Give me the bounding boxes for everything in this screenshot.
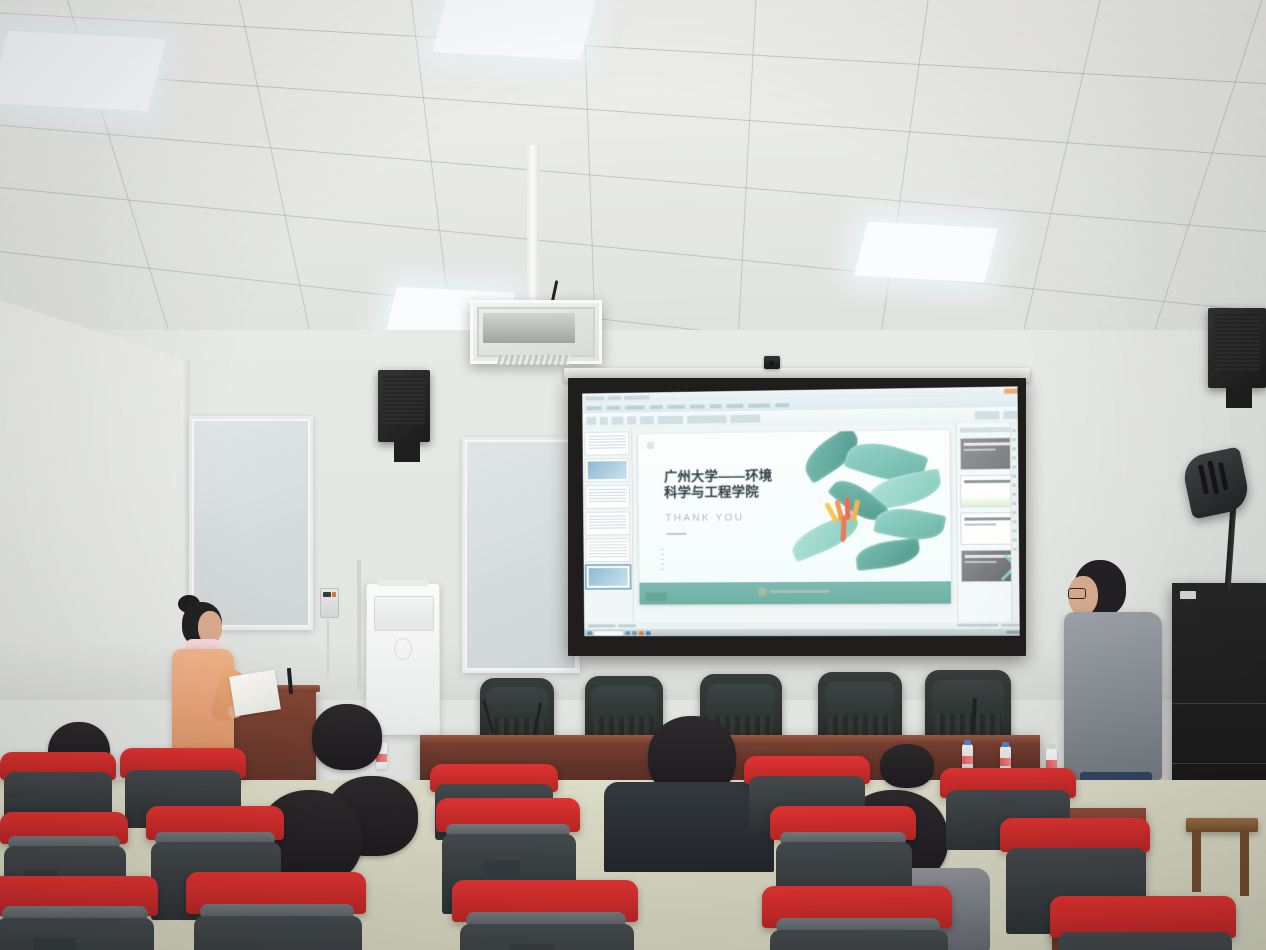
- camera-icon: [764, 356, 780, 369]
- ceiling-air-vent: [497, 355, 572, 365]
- panel-chair: [585, 676, 663, 744]
- design-ideas-header: [960, 427, 1015, 433]
- taskbar-search-input[interactable]: [594, 631, 623, 635]
- air-conditioner: [366, 583, 440, 735]
- wall-conduit: [357, 560, 361, 690]
- projector-mount-pole: [527, 145, 539, 310]
- conference-room-photo: 广州大学——环境 科学与工程学院 THANK YOU: [0, 0, 1266, 950]
- slide-subtitle: THANK YOU: [665, 511, 744, 524]
- printed-papers: [229, 670, 281, 717]
- taskbar-app-icon[interactable]: [632, 631, 637, 635]
- water-bottle: [962, 744, 973, 771]
- slide-editing-stage: 广州大学——环境 科学与工程学院 THANK YOU: [632, 424, 957, 623]
- start-button-icon[interactable]: [587, 631, 592, 635]
- glasses-icon: [1068, 588, 1086, 599]
- projector-body: [483, 313, 575, 343]
- speaker-bracket-left: [394, 440, 420, 462]
- current-slide: 广州大学——环境 科学与工程学院 THANK YOU: [638, 430, 951, 605]
- slide-thumbnail[interactable]: [585, 485, 630, 509]
- slide-logo-icon: [647, 442, 654, 449]
- ppt-workspace: 广州大学——环境 科学与工程学院 THANK YOU: [583, 423, 1020, 623]
- taskbar-app-icon[interactable]: [639, 631, 644, 635]
- slide-number-tag: [645, 593, 667, 602]
- ceiling-panel-light: [854, 222, 998, 283]
- audience-head: [312, 704, 382, 770]
- slide-thumbnail[interactable]: [585, 511, 630, 535]
- ceiling-panel-light: [433, 0, 597, 60]
- speaker-bracket-right: [1226, 386, 1252, 408]
- projection-screen-assembly: 广州大学——环境 科学与工程学院 THANK YOU: [564, 368, 1030, 668]
- stool-leg: [1192, 830, 1201, 892]
- stool-leg: [1240, 830, 1249, 896]
- slide-watermark: [758, 587, 830, 596]
- slide-side-dots: [661, 549, 664, 571]
- design-idea-card[interactable]: [960, 437, 1015, 470]
- projected-desktop: 广州大学——环境 科学与工程学院 THANK YOU: [582, 386, 1020, 636]
- wall-control-panel[interactable]: [320, 588, 339, 618]
- panel-chair: [925, 670, 1011, 744]
- taskbar-app-icon[interactable]: [625, 631, 630, 635]
- slide-thumbnail[interactable]: [584, 431, 629, 455]
- design-idea-card[interactable]: [960, 512, 1015, 545]
- control-panel-cable: [327, 616, 329, 678]
- slide-thumbnail-selected[interactable]: [586, 565, 631, 589]
- design-idea-card[interactable]: [961, 550, 1016, 583]
- whiteboard-right: [462, 437, 580, 673]
- ac-dial-icon: [394, 638, 412, 660]
- taskbar-clock: [1006, 631, 1019, 634]
- audience-head: [880, 744, 934, 788]
- wall-speaker-left: [378, 370, 430, 442]
- panel-chair: [818, 672, 902, 744]
- wall-speaker-right: [1208, 308, 1266, 388]
- ppt-account-chip[interactable]: [1004, 388, 1020, 393]
- slide-divider-rule: [666, 533, 686, 535]
- leaf-illustration: [770, 438, 950, 590]
- slide-thumbnail[interactable]: [585, 538, 630, 562]
- design-idea-card[interactable]: [960, 475, 1015, 508]
- slide-thumbnail-panel[interactable]: [583, 428, 634, 622]
- right-scroll-rail[interactable]: [1010, 423, 1020, 622]
- ceiling-panel-light: [0, 31, 166, 111]
- slide-thumbnail[interactable]: [585, 458, 630, 482]
- windows-taskbar[interactable]: [584, 629, 1020, 637]
- taskbar-app-icon[interactable]: [646, 631, 651, 635]
- observer-jacket: [1064, 612, 1162, 780]
